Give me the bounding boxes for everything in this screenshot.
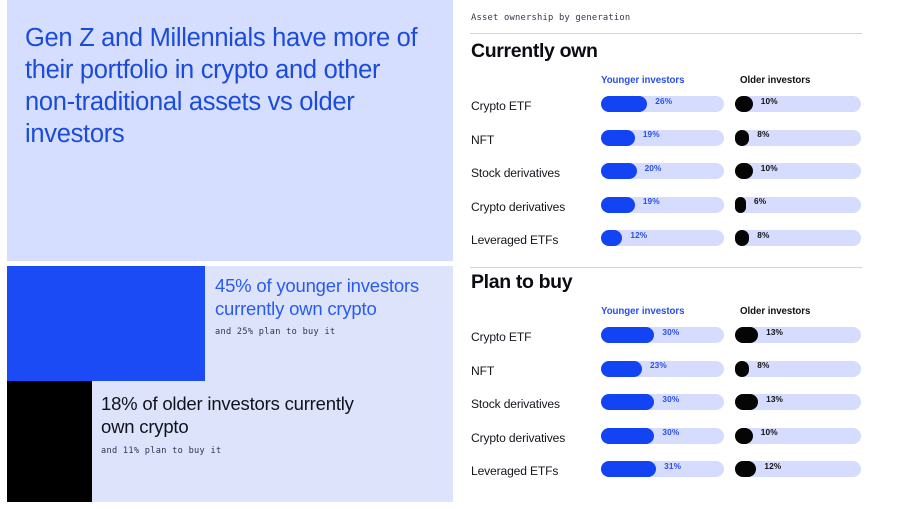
bar-fill-older [735, 230, 749, 246]
bar-value-younger: 30% [662, 394, 679, 404]
section-title-currently-own: Currently own [471, 40, 598, 63]
headline-panel: Gen Z and Millennials have more of their… [7, 0, 453, 261]
chart-kicker: Asset ownership by generation [471, 13, 630, 23]
stat-card-younger: 45% of younger investors currently own c… [7, 266, 453, 381]
bar-track-younger [601, 163, 724, 179]
legend-younger-investors: Younger investors [601, 75, 685, 86]
bar-track-older [735, 230, 861, 246]
bar-rows-currently-own: Crypto ETF26%10%NFT19%8%Stock derivative… [468, 92, 900, 260]
bar-value-younger: 19% [643, 196, 660, 206]
bar-row-label: Crypto ETF [471, 99, 531, 113]
bar-row-label: NFT [471, 364, 494, 378]
bar-value-younger: 23% [650, 360, 667, 370]
bar-fill-older [735, 197, 746, 213]
bar-value-older: 6% [754, 196, 766, 206]
stat-card-younger-body: 45% of younger investors currently own c… [215, 274, 447, 337]
bar-track-older [735, 461, 861, 477]
bar-fill-younger [601, 394, 654, 410]
bar-row: Crypto derivatives19%6% [468, 193, 900, 227]
bar-fill-older [735, 361, 749, 377]
stat-card-younger-swatch [7, 266, 205, 381]
bar-row-label: NFT [471, 133, 494, 147]
bar-fill-older [735, 428, 753, 444]
bar-fill-younger [601, 428, 654, 444]
bar-track-older [735, 163, 861, 179]
bar-row: NFT19%8% [468, 126, 900, 160]
bar-fill-younger [601, 130, 635, 146]
bar-track-older [735, 96, 861, 112]
bar-fill-older [735, 394, 758, 410]
bar-row: Leveraged ETFs31%12% [468, 457, 900, 491]
stat-card-older: 18% of older investors currently own cry… [7, 381, 453, 502]
bar-track-older [735, 327, 861, 343]
bar-value-younger: 30% [662, 327, 679, 337]
legend-younger-investors: Younger investors [601, 306, 685, 317]
bar-row: Crypto ETF30%13% [468, 323, 900, 357]
bar-row: Stock derivatives30%13% [468, 390, 900, 424]
bar-fill-older [735, 96, 753, 112]
bar-value-younger: 12% [630, 230, 647, 240]
stat-card-older-body: 18% of older investors currently own cry… [101, 392, 361, 456]
left-column: Gen Z and Millennials have more of their… [7, 0, 453, 509]
bar-row-label: Leveraged ETFs [471, 464, 558, 478]
bar-row: NFT23%8% [468, 357, 900, 391]
bar-fill-younger [601, 361, 642, 377]
bar-fill-younger [601, 461, 656, 477]
stat-card-older-headline: 18% of older investors currently own cry… [101, 392, 361, 438]
bar-fill-older [735, 327, 758, 343]
bar-row-label: Crypto ETF [471, 330, 531, 344]
bar-value-older: 13% [766, 394, 783, 404]
bar-track-younger [601, 197, 724, 213]
bar-value-older: 10% [761, 163, 778, 173]
bar-fill-younger [601, 230, 622, 246]
bar-rows-plan-to-buy: Crypto ETF30%13%NFT23%8%Stock derivative… [468, 323, 900, 491]
bar-track-older [735, 361, 861, 377]
bar-fill-younger [601, 327, 654, 343]
bar-value-younger: 26% [655, 96, 672, 106]
bar-fill-younger [601, 96, 647, 112]
bar-track-older [735, 428, 861, 444]
bar-row-label: Crypto derivatives [471, 431, 565, 445]
bar-value-older: 8% [757, 230, 769, 240]
bar-track-older [735, 394, 861, 410]
bar-row: Crypto ETF26%10% [468, 92, 900, 126]
stat-card-older-swatch [7, 381, 92, 502]
chart-column: Asset ownership by generation Currently … [468, 0, 900, 509]
bar-fill-older [735, 163, 753, 179]
bar-row: Stock derivatives20%10% [468, 159, 900, 193]
bar-row-label: Stock derivatives [471, 166, 560, 180]
page-title: Gen Z and Millennials have more of their… [25, 22, 425, 150]
bar-value-older: 12% [764, 461, 781, 471]
legend-older-investors: Older investors [740, 306, 810, 317]
section-title-plan-to-buy: Plan to buy [471, 271, 572, 294]
bar-value-older: 10% [761, 96, 778, 106]
bar-value-younger: 19% [643, 129, 660, 139]
bar-track-younger [601, 230, 724, 246]
divider-middle [470, 267, 862, 268]
bar-row-label: Crypto derivatives [471, 200, 565, 214]
stat-card-younger-headline: 45% of younger investors currently own c… [215, 274, 447, 320]
bar-fill-younger [601, 197, 635, 213]
bar-value-older: 13% [766, 327, 783, 337]
bar-track-younger [601, 461, 724, 477]
bar-fill-older [735, 461, 756, 477]
bar-row-label: Leveraged ETFs [471, 233, 558, 247]
divider-top [470, 33, 862, 34]
bar-value-younger: 30% [662, 427, 679, 437]
legend-older-investors: Older investors [740, 75, 810, 86]
bar-value-younger: 31% [664, 461, 681, 471]
bar-row: Leveraged ETFs12%8% [468, 226, 900, 260]
bar-fill-older [735, 130, 749, 146]
bar-row: Crypto derivatives30%10% [468, 424, 900, 458]
stat-card-younger-subtext: and 25% plan to buy it [215, 327, 447, 337]
stat-card-older-subtext: and 11% plan to buy it [101, 446, 361, 456]
bar-row-label: Stock derivatives [471, 397, 560, 411]
bar-fill-younger [601, 163, 637, 179]
bar-value-older: 8% [757, 129, 769, 139]
bar-value-older: 8% [757, 360, 769, 370]
bar-value-older: 10% [761, 427, 778, 437]
infographic-page: Gen Z and Millennials have more of their… [0, 0, 900, 509]
bar-track-older [735, 130, 861, 146]
bar-track-younger [601, 130, 724, 146]
bar-value-younger: 20% [645, 163, 662, 173]
